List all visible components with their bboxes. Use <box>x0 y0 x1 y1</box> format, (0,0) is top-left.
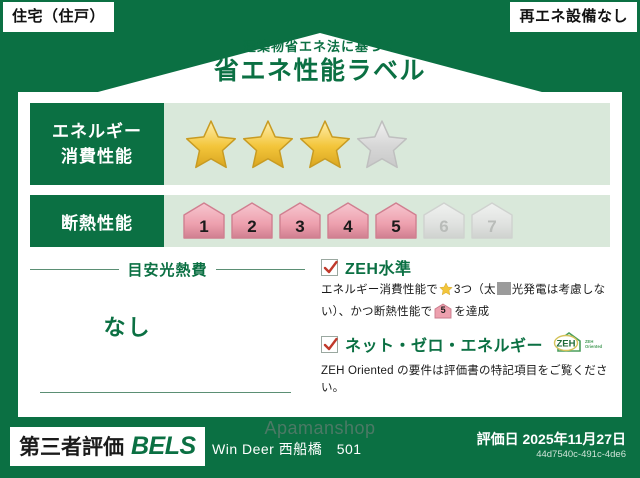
check-title-net-zero-energy: ネット・ゼロ・エネルギー <box>345 332 543 356</box>
energy-label-line1: エネルギー <box>52 119 142 145</box>
checkbox-checked-icon <box>321 336 338 353</box>
bels-badge-en: BELS <box>131 432 196 461</box>
label-subtitle: 建築物省エネ法に基づく <box>0 40 640 54</box>
check-body-text-part1: エネルギー消費性能で <box>321 284 438 296</box>
grade-badge-6: 6 <box>422 201 466 241</box>
grade-badge-value: 7 <box>487 218 496 241</box>
rule-left <box>30 269 119 270</box>
utility-cost-title: 目安光熱費 <box>127 259 207 280</box>
check-body-zeh-standard: エネルギー消費性能で3つ（太光発電は考慮しない）、かつ断熱性能で5を達成 <box>321 282 610 322</box>
renewable-energy-tag: 再エネ設備なし <box>510 2 637 32</box>
grade-badge-value: 1 <box>199 218 208 241</box>
building-type-tag: 住宅（住戸） <box>3 2 114 32</box>
checkbox-checked-icon <box>321 259 338 276</box>
grade-badge-3: 3 <box>278 201 322 241</box>
evaluation-date: 評価日 2025年11月27日 <box>477 429 626 449</box>
property-name: Win Deer 西船橋 501 <box>212 439 362 459</box>
check-head: ネット・ゼロ・エネルギー ZEH ZEH Oriented <box>321 329 610 360</box>
star-icon-filled <box>241 118 295 170</box>
grade-badge-inline: 5 <box>434 303 452 319</box>
insulation-performance-value: 1234567 <box>164 195 610 247</box>
zeh-oriented-logo-icon: ZEH ZEH Oriented <box>552 329 610 360</box>
check-title-zeh-standard: ZEH水準 <box>345 255 412 279</box>
insulation-performance-row: 断熱性能 1234567 <box>30 195 610 247</box>
grade-badge-1: 1 <box>182 201 226 241</box>
bels-energy-label: 住宅（住戸） 再エネ設備なし 建築物省エネ法に基づく 省エネ性能ラベル エネルギ… <box>0 0 640 478</box>
star-icon-inline <box>439 282 453 303</box>
footer-bar: 第三者評価 BELS Win Deer 西船橋 501 評価日 2025年11月… <box>0 417 640 478</box>
grade-scale: 1234567 <box>182 201 514 241</box>
certification-checks: ZEH水準 エネルギー消費性能で3つ（太光発電は考慮しない）、かつ断熱性能で5を… <box>305 255 610 405</box>
label-body-card: エネルギー 消費性能 断熱性能 1234567 目安光熱費 なし <box>18 92 622 417</box>
grade-badge-value: 6 <box>439 218 448 241</box>
check-body-net-zero-energy: ZEH Oriented の要件は評価書の特記項目をご覧ください。 <box>321 363 610 399</box>
utility-cost-value: なし <box>30 310 305 342</box>
rule-right <box>216 269 305 270</box>
svg-text:ZEH: ZEH <box>557 338 576 349</box>
grade-badge-inline-value: 5 <box>434 304 452 318</box>
grade-badge-value: 5 <box>391 218 400 241</box>
lower-section: 目安光熱費 なし ZEH水準 <box>30 255 610 405</box>
grade-badge-value: 4 <box>343 218 352 241</box>
star-icon-filled <box>298 118 352 170</box>
energy-performance-row: エネルギー 消費性能 <box>30 103 610 185</box>
utility-cost-header: 目安光熱費 <box>30 259 305 280</box>
energy-label-line2: 消費性能 <box>61 144 133 170</box>
redacted-block <box>497 282 511 295</box>
utility-cost-bottom-rule <box>40 392 291 393</box>
bels-badge-jp: 第三者評価 <box>19 431 124 461</box>
bels-badge: 第三者評価 BELS <box>10 427 205 466</box>
label-title: 省エネ性能ラベル <box>0 56 640 87</box>
check-body-text-part2: 3つ（太 <box>454 284 496 296</box>
check-item-net-zero-energy: ネット・ゼロ・エネルギー ZEH ZEH Oriented ZEH Orient… <box>321 329 610 399</box>
star-icon-filled <box>184 118 238 170</box>
insulation-performance-label: 断熱性能 <box>30 195 164 247</box>
check-head: ZEH水準 <box>321 255 610 279</box>
evaluation-id: 44d7540c-491c-4de6 <box>536 449 626 460</box>
svg-text:Oriented: Oriented <box>585 344 603 349</box>
check-body-text-part4: を達成 <box>454 306 489 318</box>
energy-performance-label: エネルギー 消費性能 <box>30 103 164 185</box>
grade-badge-value: 3 <box>295 218 304 241</box>
grade-badge-5: 5 <box>374 201 418 241</box>
star-icon-empty <box>355 118 409 170</box>
grade-badge-2: 2 <box>230 201 274 241</box>
label-title-block: 建築物省エネ法に基づく 省エネ性能ラベル <box>0 40 640 88</box>
energy-performance-value <box>164 103 610 185</box>
check-item-zeh-standard: ZEH水準 エネルギー消費性能で3つ（太光発電は考慮しない）、かつ断熱性能で5を… <box>321 255 610 322</box>
utility-cost-section: 目安光熱費 なし <box>30 255 305 405</box>
grade-badge-value: 2 <box>247 218 256 241</box>
star-rating <box>184 118 409 170</box>
grade-badge-4: 4 <box>326 201 370 241</box>
grade-badge-7: 7 <box>470 201 514 241</box>
